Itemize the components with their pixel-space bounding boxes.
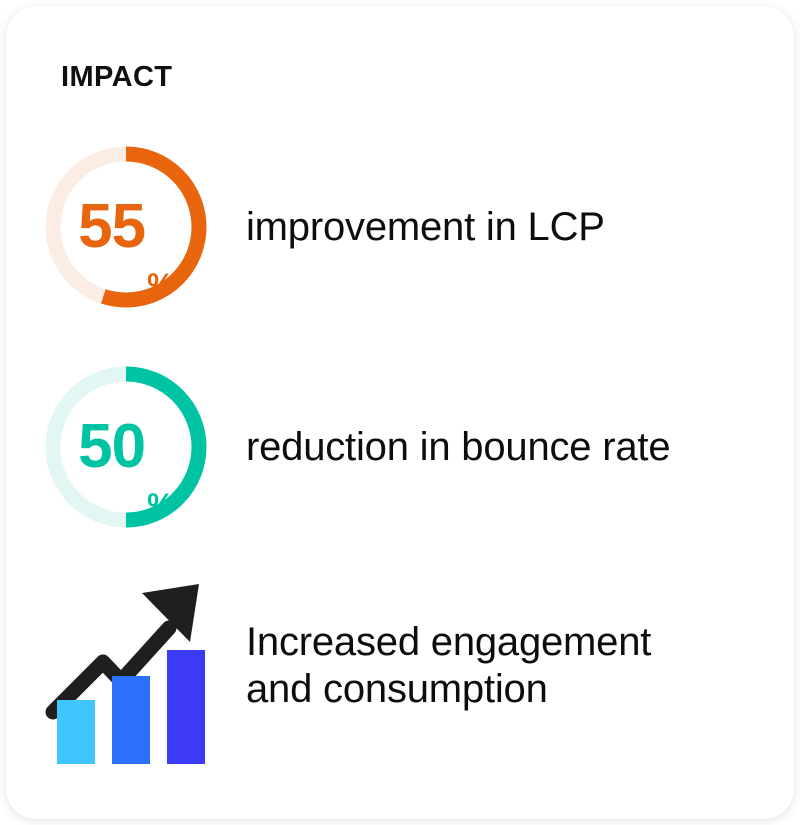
donut-percent-sign: % <box>147 270 174 310</box>
bar-2 <box>112 676 150 764</box>
metric-label-line-1: Increased engagement <box>246 619 651 665</box>
metric-row-bounce-rate: 50 % reduction in bounce rate <box>6 354 794 540</box>
donut-progress-icon: 55 % <box>43 144 209 310</box>
metric-row-engagement: Increased engagement and consumption <box>6 558 794 773</box>
donut-number: 50 <box>78 416 145 478</box>
metric-row-lcp: 55 % improvement in LCP <box>6 134 794 320</box>
metric-label: reduction in bounce rate <box>246 424 700 470</box>
donut-percent-sign: % <box>147 490 174 530</box>
donut-center-value: 50 % <box>43 364 209 530</box>
donut-progress-icon: 50 % <box>43 364 209 530</box>
metric-visual <box>6 558 246 773</box>
metric-label: improvement in LCP <box>246 204 635 250</box>
donut-number: 55 <box>78 196 145 258</box>
growth-chart-icon <box>41 566 211 766</box>
page-title: IMPACT <box>61 63 172 92</box>
metric-visual: 50 % <box>6 354 246 540</box>
bar-1 <box>57 700 95 764</box>
metric-label: Increased engagement and consumption <box>246 619 681 712</box>
metric-label-line-2: and consumption <box>246 666 651 712</box>
bar-3 <box>167 650 205 764</box>
metric-visual: 55 % <box>6 134 246 320</box>
donut-center-value: 55 % <box>43 144 209 310</box>
impact-card: IMPACT 55 % improvement in LCP <box>6 6 794 819</box>
